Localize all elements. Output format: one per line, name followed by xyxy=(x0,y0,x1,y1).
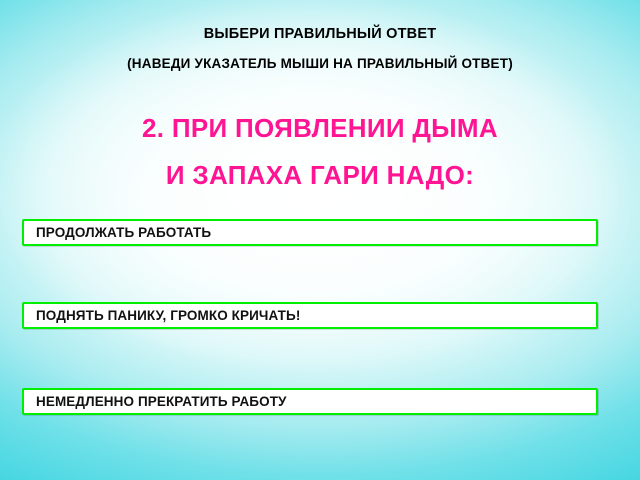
answer-option-1-label: ПРОДОЛЖАТЬ РАБОТАТЬ xyxy=(36,225,211,240)
instruction-line-1: ВЫБЕРИ ПРАВИЛЬНЫЙ ОТВЕТ xyxy=(0,0,640,42)
answer-option-2[interactable]: ПОДНЯТЬ ПАНИКУ, ГРОМКО КРИЧАТЬ! xyxy=(22,302,598,329)
instruction-line-2: (НАВЕДИ УКАЗАТЕЛЬ МЫШИ НА ПРАВИЛЬНЫЙ ОТВ… xyxy=(0,42,640,71)
answer-option-2-label: ПОДНЯТЬ ПАНИКУ, ГРОМКО КРИЧАТЬ! xyxy=(36,308,300,323)
slide-canvas: ВЫБЕРИ ПРАВИЛЬНЫЙ ОТВЕТ (НАВЕДИ УКАЗАТЕЛ… xyxy=(0,0,640,480)
answer-option-1[interactable]: ПРОДОЛЖАТЬ РАБОТАТЬ xyxy=(22,219,598,246)
answer-option-3[interactable]: НЕМЕДЛЕННО ПРЕКРАТИТЬ РАБОТУ xyxy=(22,388,598,415)
question-line-1: 2. ПРИ ПОЯВЛЕНИИ ДЫМА xyxy=(0,71,640,144)
question-line-2: И ЗАПАХА ГАРИ НАДО: xyxy=(0,144,640,191)
answer-option-3-label: НЕМЕДЛЕННО ПРЕКРАТИТЬ РАБОТУ xyxy=(36,394,287,409)
slide-content: ВЫБЕРИ ПРАВИЛЬНЫЙ ОТВЕТ (НАВЕДИ УКАЗАТЕЛ… xyxy=(0,0,640,191)
